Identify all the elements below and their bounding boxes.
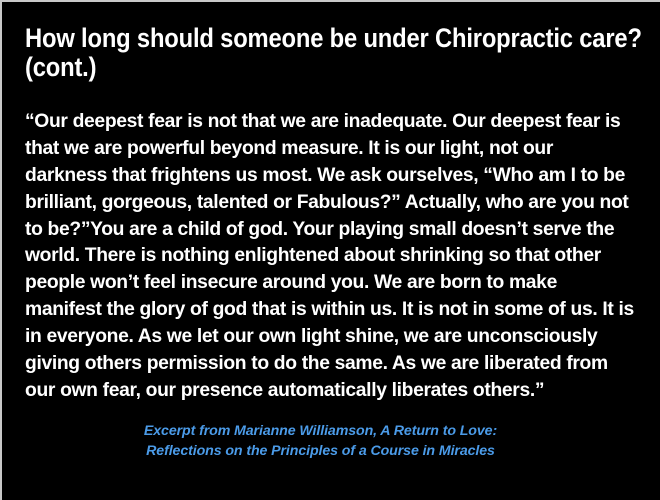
quote-attribution: Excerpt from Marianne Williamson, A Retu… [25, 421, 640, 461]
attribution-line-1: Excerpt from Marianne Williamson, A Retu… [47, 421, 594, 441]
quote-body-text: “Our deepest fear is not that we are ina… [25, 108, 636, 404]
slide-content-area: How long should someone be under Chiropr… [2, 2, 660, 500]
presentation-slide: How long should someone be under Chiropr… [0, 0, 660, 500]
attribution-line-2: Reflections on the Principles of a Cours… [47, 441, 594, 461]
slide-title: How long should someone be under Chiropr… [25, 24, 642, 82]
